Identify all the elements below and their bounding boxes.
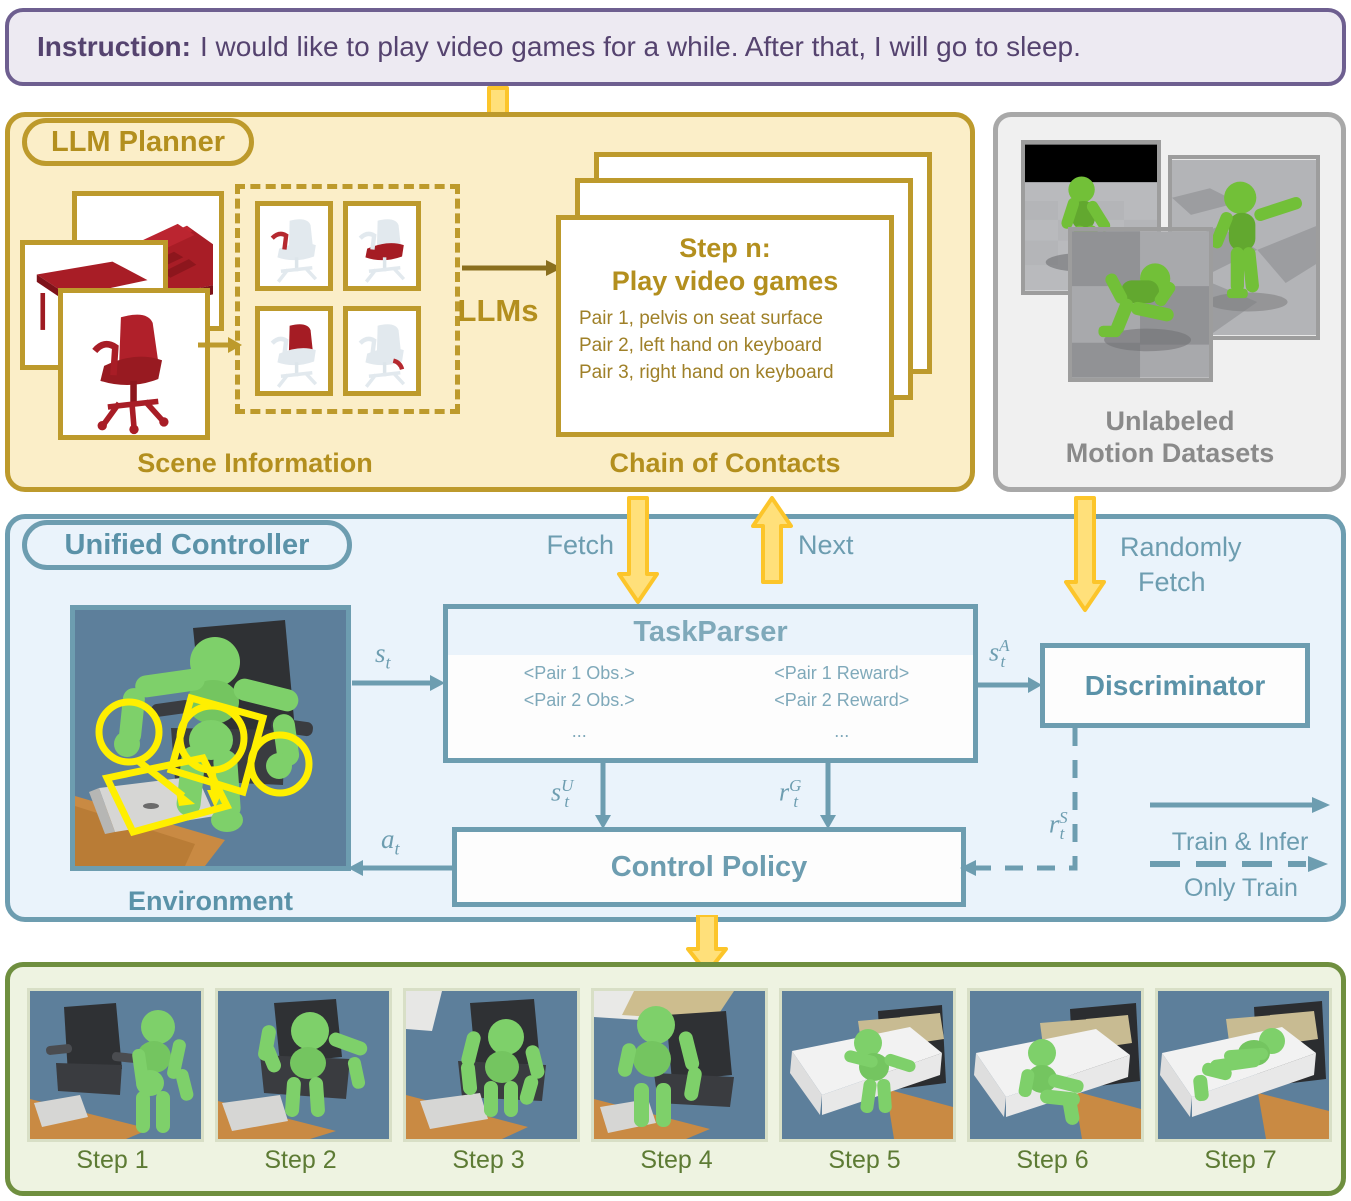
legend-only-train-label: Only Train <box>1152 872 1330 904</box>
next-label: Next <box>798 530 886 564</box>
reward-rt-G-label: rGt <box>779 776 798 812</box>
llms-label: LLMs <box>452 290 544 332</box>
st-sub: t <box>386 652 391 672</box>
randomly-fetch-line2: Fetch <box>1138 565 1310 600</box>
taskparser-reward-1: <Pair 1 Reward> <box>711 663 974 684</box>
llm-planner-title: LLM Planner <box>51 126 225 159</box>
result-thumb-step-7 <box>1155 988 1332 1142</box>
state-st-U-label: sUt <box>551 776 569 812</box>
taskparser-reward-ellipsis: ... <box>711 721 974 742</box>
state-st-A-label: sAt <box>989 636 1005 672</box>
result-label-step-3: Step 3 <box>403 1146 574 1178</box>
result-thumb-step-4 <box>591 988 768 1142</box>
scene-thumb-chair <box>58 288 210 440</box>
result-thumb-step-3 <box>403 988 580 1142</box>
result-label-step-5: Step 5 <box>779 1146 950 1178</box>
result-thumb-step-1 <box>27 988 204 1142</box>
contact-pair-3: Pair 3, right hand on keyboard <box>579 360 889 387</box>
llm-planner-title-pill: LLM Planner <box>22 118 254 166</box>
rt-G-sub: t <box>793 792 798 811</box>
chain-of-contacts-caption: Chain of Contacts <box>556 446 894 480</box>
result-label-step-2: Step 2 <box>215 1146 386 1178</box>
arrow-taskparser-to-policy-state <box>594 763 612 829</box>
at-sub: t <box>395 838 400 858</box>
environment-caption: Environment <box>70 884 351 918</box>
motion-caption-line2: Motion Datasets <box>1066 437 1275 469</box>
step-card-front[interactable]: Step n: Play video games Pair 1, pelvis … <box>556 215 894 437</box>
discriminator-box[interactable]: Discriminator <box>1040 643 1310 728</box>
action-at-label: at <box>381 824 400 859</box>
arrow-env-to-taskparser <box>352 674 445 692</box>
motion-caption-line1: Unlabeled <box>1105 405 1234 437</box>
arrow-taskparser-to-policy-reward <box>819 763 837 829</box>
taskparser-obs-1: <Pair 1 Obs.> <box>448 663 711 684</box>
candidate-chair-right-armrest[interactable] <box>343 306 421 396</box>
contact-pair-2: Pair 2, left hand on keyboard <box>579 333 889 360</box>
contact-pair-1: Pair 1, pelvis on seat surface <box>579 306 889 333</box>
st-A-sub: t <box>1001 652 1006 671</box>
step-title-line1: Step n: <box>561 232 889 265</box>
result-thumb-step-6 <box>967 988 1144 1142</box>
state-st-label: st <box>375 638 391 673</box>
scene-information-caption: Scene Information <box>60 446 450 480</box>
result-thumb-step-5 <box>779 988 956 1142</box>
instruction-bar: Instruction: I would like to play video … <box>5 8 1346 86</box>
arrow-randomly-fetch-down <box>1064 496 1106 614</box>
environment-image <box>70 605 351 871</box>
arrow-discriminator-to-policy-dashed <box>960 728 1120 878</box>
step-title-line2: Play video games <box>561 265 889 298</box>
result-label-step-4: Step 4 <box>591 1146 762 1178</box>
legend-only-train-arrow <box>1150 854 1330 874</box>
arrow-policy-to-environment <box>348 859 454 877</box>
result-label-step-6: Step 6 <box>967 1146 1138 1178</box>
arrow-fetch-down <box>617 496 659 606</box>
arrow-next-up <box>751 496 793 586</box>
result-thumb-step-2 <box>215 988 392 1142</box>
candidate-chair-backrest[interactable] <box>255 306 333 396</box>
arrow-llms <box>462 258 562 278</box>
taskparser-box[interactable]: TaskParser <Pair 1 Obs.> <Pair 2 Obs.> .… <box>443 604 978 763</box>
control-policy-title: Control Policy <box>611 851 808 884</box>
motion-datasets-caption: Unlabeled Motion Datasets <box>1000 398 1340 476</box>
taskparser-obs-2: <Pair 2 Obs.> <box>448 690 711 711</box>
result-label-step-1: Step 1 <box>27 1146 198 1178</box>
taskparser-obs-ellipsis: ... <box>448 721 711 742</box>
arrow-taskparser-to-discriminator <box>978 676 1042 694</box>
control-policy-box[interactable]: Control Policy <box>452 827 966 907</box>
instruction-text: I would like to play video games for a w… <box>200 31 1081 63</box>
result-label-step-7: Step 7 <box>1155 1146 1326 1178</box>
discriminator-title: Discriminator <box>1085 670 1266 702</box>
unified-controller-title-pill: Unified Controller <box>22 520 352 570</box>
st-U-sub: t <box>564 792 569 811</box>
randomly-fetch-label: Randomly Fetch <box>1120 530 1310 606</box>
instruction-label: Instruction: <box>37 31 191 63</box>
legend-train-infer-arrow <box>1150 795 1330 815</box>
fetch-label: Fetch <box>526 530 614 564</box>
taskparser-title: TaskParser <box>633 616 787 649</box>
llms-text: LLMs <box>458 293 539 329</box>
candidate-chair-seat[interactable] <box>343 201 421 291</box>
randomly-fetch-line1: Randomly <box>1120 530 1310 565</box>
unified-controller-title: Unified Controller <box>65 529 310 562</box>
taskparser-reward-2: <Pair 2 Reward> <box>711 690 974 711</box>
candidate-chair-armrest[interactable] <box>255 201 333 291</box>
motion-thumb-3 <box>1068 227 1213 382</box>
